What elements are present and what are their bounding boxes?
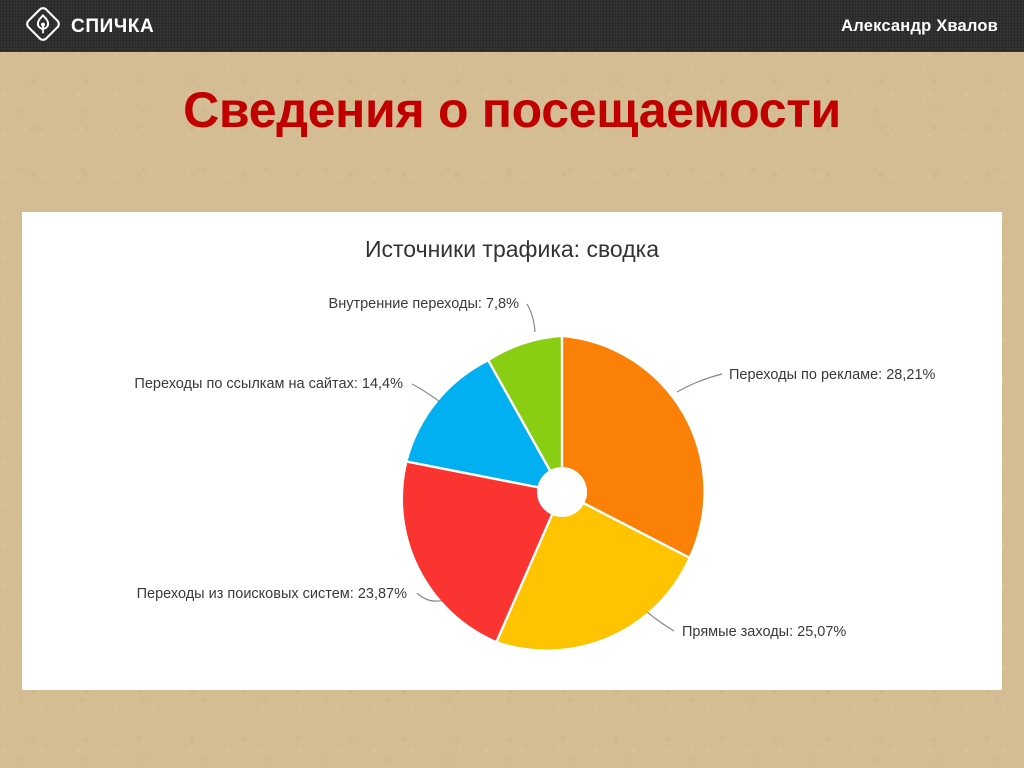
- pie-label-links: Переходы по ссылкам на сайтах: 14,4%: [134, 376, 403, 392]
- pie-chart: Переходы по рекламе: 28,21% Прямые заход…: [22, 212, 1002, 690]
- donut-hole: [537, 467, 587, 517]
- chart-card: Источники трафика: сводка Переходы по ре…: [22, 212, 1002, 690]
- top-bar: СПИЧКА Александр Хвалов: [0, 0, 1024, 52]
- author-name: Александр Хвалов: [841, 0, 998, 52]
- page-title: Сведения о посещаемости: [0, 84, 1024, 137]
- pie-label-internal: Внутренние переходы: 7,8%: [329, 296, 520, 312]
- flame-diamond-icon: [26, 7, 60, 46]
- leader-line-direct: [647, 612, 674, 631]
- pie-label-search: Переходы из поисковых систем: 23,87%: [137, 586, 408, 602]
- pie-label-ad: Переходы по рекламе: 28,21%: [729, 367, 936, 383]
- brand-name: СПИЧКА: [71, 17, 154, 36]
- leader-line-ad: [677, 374, 722, 392]
- brand[interactable]: СПИЧКА: [26, 8, 154, 44]
- pie-label-direct: Прямые заходы: 25,07%: [682, 624, 846, 640]
- leader-line-internal: [527, 304, 535, 332]
